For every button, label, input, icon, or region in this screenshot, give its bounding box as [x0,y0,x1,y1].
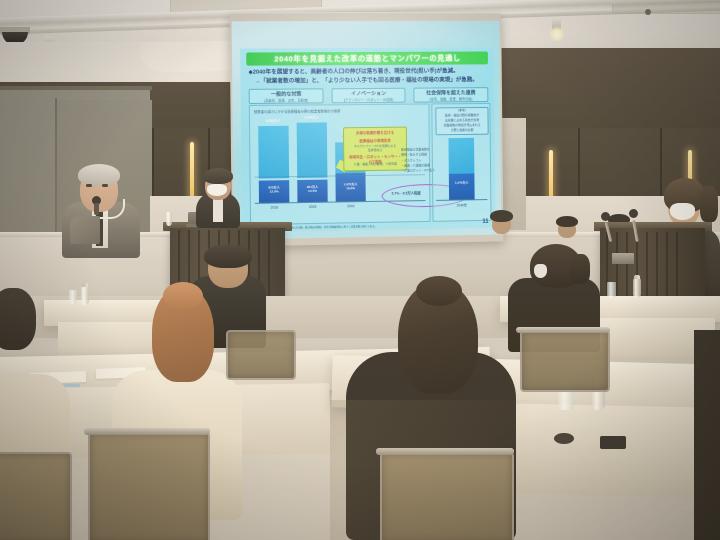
highlight-value-label: 5.7%→9.5万人程度 [392,190,438,196]
gooseneck-microphone-head-icon [601,212,610,221]
chair [520,330,610,392]
slide-category-box-2: イノベーション (テクノロジー・ロボット・AI活用) [332,88,406,104]
ceiling-sensor [645,9,651,15]
moderator-face-mask [670,203,695,220]
slide-category-box-3: 社会保障を超えた連携 (住宅、金融、産業、都市計画) [413,87,488,102]
right-panel-year: 2040年 [447,202,477,207]
wall-trim [0,86,152,90]
axis-year-2025: 2025 [298,205,328,210]
presenter-hair [78,164,120,186]
slide-callout-box: 多様な就業形態を広げる 医療福祉の現場改革 タスクシフト・ICTの活用による 生… [343,127,407,172]
bar-health-value-2018: 823万人12.5% [259,186,289,194]
bar-health-value-2040: 1,070万人18.8% [336,183,366,191]
callout-head: 多様な就業形態を広げる [346,131,404,136]
right-panel-value: 1,070万人 [447,181,477,185]
note-line2: 維持・拡大する取組 [401,153,435,157]
chart-caption: 就業者の減少にかかる医療福祉分野の就業者数推計の推移 [254,108,425,115]
gooseneck-microphone-head-icon [629,209,638,218]
chair [226,330,296,380]
audience-member-left-edge-hair [0,288,36,350]
bottle-cap [634,275,640,279]
slide-title-text: 2040年を見据えた改革の道筋とマンパワーの見通し [274,53,460,65]
slide-chart-panel: 就業者の減少にかかる医療福祉分野の就業者数推計の推移 6,580万人 823万人… [249,103,431,225]
audience-face-mask [534,264,547,278]
right-panel-note-box: (参考) 医療・福祉分野の就業者が 全産業に占める割合が急増 就業者数の増加が見… [435,107,488,135]
audience-member-right-edge [694,330,720,540]
chair [88,432,210,540]
axis-year-2040: 2040 [336,204,366,209]
moderator-hair-bun [700,186,718,222]
category-sub: (テクノロジー・ロボット・AI活用) [344,96,394,101]
audience-member-front-black-head [416,276,462,306]
category-sub: (住宅、金融、産業、都市計画) [429,96,472,101]
callout-line5: 介護・福祉人材の確保、人材育成 [346,163,404,168]
bar-top-label-2018: 6,580万人 [256,120,290,124]
category-sub: (高齢化、医療、女性、高齢者) [264,97,308,102]
right-panel-baseline [436,199,487,201]
presenter-eye-right [102,184,108,187]
right-panel-bar-total [448,138,474,174]
bar-total-2018 [258,126,289,179]
slide-page-number: 11 [482,219,488,225]
slide-category-box-1: 一般的な対策 (高齢化、医療、女性、高齢者) [249,88,324,104]
bar-total-2025 [297,122,328,178]
audience-member-front-cream-head [163,282,203,310]
slide-title-bar: 2040年を見据えた改革の道筋とマンパワーの見通し [246,51,488,65]
slide-note-box: 医療福祉の就業者数を 維持・拡大する取組 ・タスクシフト ・看護・介護職の確保 … [401,148,435,178]
slide-lead-line-2: →「就業者数の増加」と、「より少ない人手でも回る医療・福祉の現場の実現」が急務。 [255,76,491,86]
presentation-slide: 2040年を見据えた改革の道筋とマンパワーの見通し ◆2040年を展望すると、高… [240,47,495,232]
audience-member-back-hair [204,244,252,268]
axis-year-2018: 2018 [259,205,289,210]
slide-right-panel: (参考) 医療・福祉分野の就業者が 全産業に占める割合が急増 就業者数の増加が見… [431,103,491,222]
water-bottle [81,286,89,305]
drinking-glass [607,282,616,298]
note-line5: ・介護ロボット・ICT活用 [401,169,435,173]
projection-screen: 2040年を見据えた改革の道筋とマンパワーの見通し ◆2040年を展望すると、高… [230,14,504,247]
right-panel-bar-health [449,173,475,199]
chair [380,452,514,540]
drinking-glass [69,290,77,304]
audience-hair-bun [570,254,590,284]
right-note-line5: 分野と連携が必要 [438,129,487,133]
panelist-hair [203,168,233,184]
chair-frame-top [516,327,610,333]
chair-frame-top [84,428,210,435]
conference-room-photo: 2040年を見据えた改革の道筋とマンパワーの見通し ◆2040年を展望すると、高… [0,0,720,540]
chair [0,452,72,540]
smartphone [600,436,626,449]
bar-top-label-2025: 6,490万人 [295,116,329,120]
lectern-water-bottle [166,212,172,226]
spotlight-glow [549,26,565,42]
projection-screen-surface: 2040年を見据えた改革の道筋とマンパワーの見通し ◆2040年を展望すると、高… [232,21,502,240]
bottle-cap [82,283,88,287]
far-audience-hair [490,210,513,222]
lectern-control-panel [612,253,634,264]
water-bottle [633,278,641,298]
panelist-face-mask [207,184,227,196]
bar-health-value-2025: 931万人14.4% [297,186,327,194]
presenter-arm [70,216,100,244]
far-audience-hair [556,216,578,227]
chair-frame-top [376,448,514,455]
eyeglasses-case [554,433,574,444]
callout-line3: 生産性向上 [346,149,404,153]
presenter-eye-left [86,184,92,187]
